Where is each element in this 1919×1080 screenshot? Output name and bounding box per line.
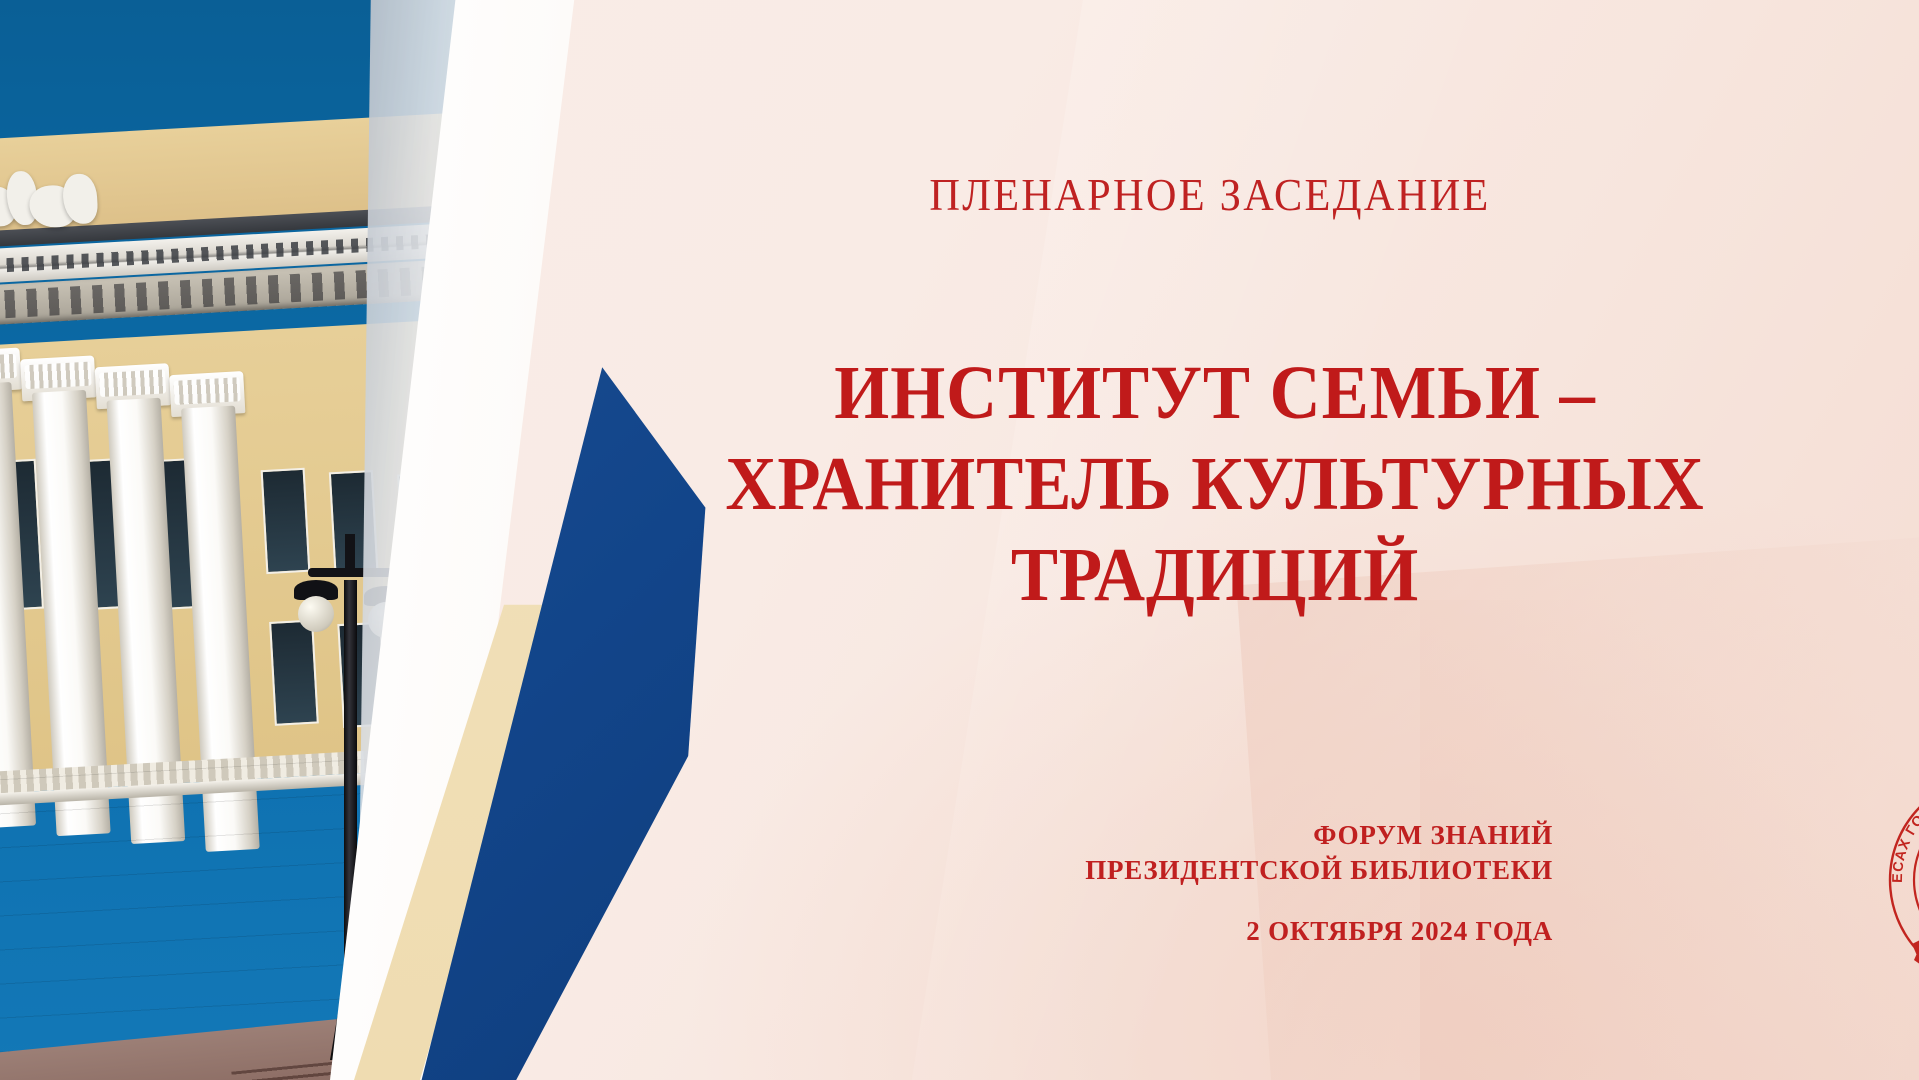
- photo-and-graphics-stage: [0, 0, 700, 1080]
- presidential-library-logo: В ИНТЕРЕСАХ ГОСУДАРСТВА – НА БЛАГО ОБЩЕС…: [1878, 764, 1919, 996]
- seal-ribbon: 15 ЛЕТ: [1912, 936, 1919, 989]
- text-content-area: ПЛЕНАРНОЕ ЗАСЕДАНИЕ ИНСТИТУТ СЕМЬИ – ХРА…: [620, 0, 1919, 1080]
- headline-line-2: ХРАНИТЕЛЬ КУЛЬТУРНЫХ: [662, 439, 1769, 530]
- session-kicker: ПЛЕНАРНОЕ ЗАСЕДАНИЕ: [667, 168, 1753, 221]
- seal-ring-text: В ИНТЕРЕСАХ ГОСУДАРСТВА – НА БЛАГО ОБЩЕС…: [1878, 764, 1919, 884]
- footer-date: 2 ОКТЯБРЯ 2024 ГОДА: [1085, 914, 1553, 949]
- event-footer: ФОРУМ ЗНАНИЙ ПРЕЗИДЕНТСКОЙ БИБЛИОТЕКИ 2 …: [1085, 818, 1553, 949]
- pediment-sculpture: [0, 147, 103, 241]
- footer-forum-line: ФОРУМ ЗНАНИЙ: [1085, 818, 1553, 853]
- seal-ring-textpath: В ИНТЕРЕСАХ ГОСУДАРСТВА – НА БЛАГО ОБЩЕС…: [1878, 764, 1919, 884]
- footer-library-line: ПРЕЗИДЕНТСКОЙ БИБЛИОТЕКИ: [1085, 853, 1553, 888]
- slide-headline: ИНСТИТУТ СЕМЬИ – ХРАНИТЕЛЬ КУЛЬТУРНЫХ ТР…: [662, 348, 1769, 622]
- headline-line-3: ТРАДИЦИЙ: [662, 530, 1769, 621]
- presentation-slide: ПЛЕНАРНОЕ ЗАСЕДАНИЕ ИНСТИТУТ СЕМЬИ – ХРА…: [0, 0, 1919, 1080]
- headline-line-1: ИНСТИТУТ СЕМЬИ –: [662, 348, 1769, 439]
